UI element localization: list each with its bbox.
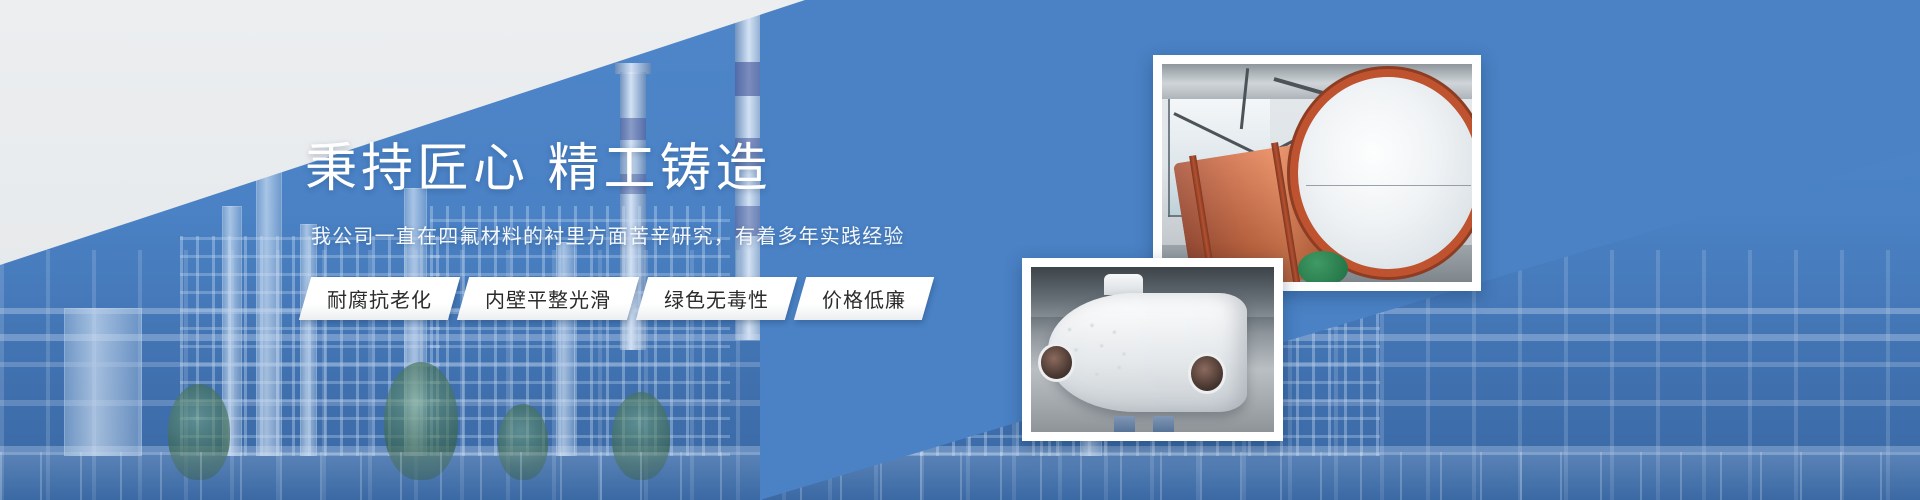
banner-subtitle: 我公司一直在四氟材料的衬里方面苦辛研究，有着多年实践经验 bbox=[311, 220, 1025, 249]
feature-tag-corrosion-resistant[interactable]: 耐腐抗老化 bbox=[299, 277, 460, 320]
site-fence bbox=[0, 452, 1920, 500]
vessel-nozzle-right bbox=[1191, 356, 1223, 391]
ptfe-lined-reactor-image bbox=[1162, 64, 1472, 282]
feature-tag-label: 耐腐抗老化 bbox=[327, 284, 432, 313]
feature-tag-non-toxic[interactable]: 绿色无毒性 bbox=[636, 277, 797, 320]
banner-copy: 秉持匠心 精工铸造 我公司一直在四氟材料的衬里方面苦辛研究，有着多年实践经验 bbox=[305, 140, 1025, 249]
vessel-support-a bbox=[1114, 416, 1136, 433]
vessel-shell bbox=[1048, 293, 1247, 412]
vessel-studs bbox=[1060, 320, 1140, 389]
feature-tag-label: 价格低廉 bbox=[822, 284, 906, 313]
feature-tag-label: 绿色无毒性 bbox=[664, 284, 769, 313]
hero-banner: 秉持匠心 精工铸造 我公司一直在四氟材料的衬里方面苦辛研究，有着多年实践经验 耐… bbox=[0, 0, 1920, 500]
reactor-green-fitting bbox=[1298, 251, 1348, 282]
lining-seam bbox=[1306, 185, 1471, 186]
vessel-manway bbox=[1104, 274, 1143, 295]
feature-tag-label: 内壁平整光滑 bbox=[485, 284, 611, 313]
ptfe-lined-reactor-photo[interactable] bbox=[1153, 55, 1481, 291]
page-title: 秉持匠心 精工铸造 bbox=[305, 140, 1025, 198]
feature-tag-smooth-inner-wall[interactable]: 内壁平整光滑 bbox=[457, 277, 639, 320]
feature-tag-low-price[interactable]: 价格低廉 bbox=[794, 277, 934, 320]
vessel-support-b bbox=[1153, 416, 1175, 433]
white-lined-vessel-photo[interactable] bbox=[1022, 258, 1283, 441]
feature-tag-list: 耐腐抗老化 内壁平整光滑 绿色无毒性 价格低廉 bbox=[305, 277, 928, 320]
reactor-ptfe-lining bbox=[1298, 77, 1472, 269]
white-lined-vessel-image bbox=[1031, 267, 1274, 432]
